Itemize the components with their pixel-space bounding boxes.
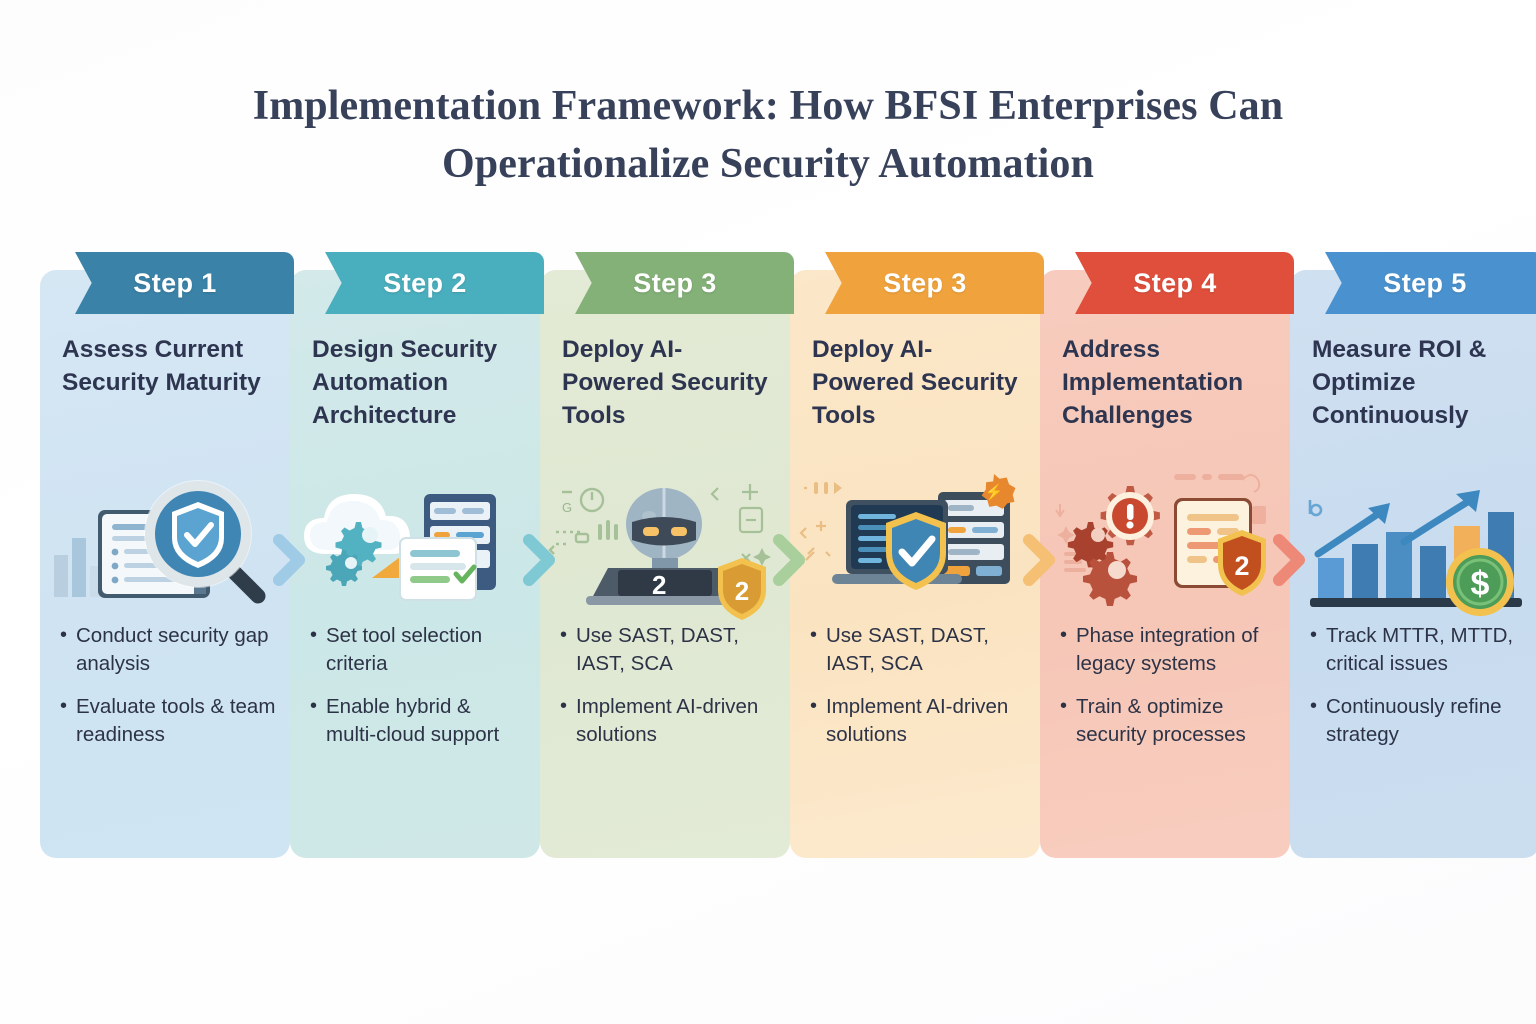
bullet-text: Set tool selection criteria [326,622,526,678]
bar-chart-growth-arrow-dollar-icon: $ [1296,490,1534,640]
svg-text:2: 2 [735,576,749,606]
bullet-dot-icon: • [1060,693,1076,720]
bullet-text: Implement AI-driven solutions [576,693,776,749]
step-label-6: Step 5 [1383,268,1466,299]
bullet-text: Track MTTR, MTTD, critical issues [1326,622,1526,678]
chevron-right-icon-4 [1019,530,1063,590]
step-label-3: Step 3 [633,268,716,299]
bullet-text: Train & optimize security processes [1076,693,1276,749]
list-item: • Enable hybrid & multi-cloud support [310,693,526,749]
step-title-1: Assess Current Security Maturity [62,334,274,400]
step-panel-4[interactable]: Step 3 Deploy AI-Powered Security Tools [790,252,1040,858]
step-panel-3[interactable]: Step 3 Deploy AI-Powered Security Tools … [540,252,790,858]
bullet-text: Continuously refine strategy [1326,693,1526,749]
bullet-dot-icon: • [60,693,76,720]
bullet-dot-icon: • [560,622,576,649]
step-title-3: Deploy AI-Powered Security Tools [562,334,774,432]
step-label-1: Step 1 [133,268,216,299]
step-title-4: Deploy AI-Powered Security Tools [812,334,1024,432]
step-panel-6[interactable]: Step 5 Measure ROI & Optimize Continuous… [1290,252,1536,858]
step-title-6: Measure ROI & Optimize Continuously [1312,334,1524,432]
chevron-right-icon-1 [269,530,313,590]
bullet-text: Use SAST, DAST, IAST, SCA [576,622,776,678]
steps-track: Step 1 Assess Current Security Maturity [40,252,1496,862]
bullet-list-4: • Use SAST, DAST, IAST, SCA • Implement … [810,622,1026,764]
document-magnifier-shield-icon [46,470,284,620]
bullet-dot-icon: • [60,622,76,649]
chevron-right-icon-2 [519,530,563,590]
bullet-text: Enable hybrid & multi-cloud support [326,693,526,749]
step-panel-2[interactable]: Step 2 Design Security Automation Archit… [290,252,540,858]
list-item: • Track MTTR, MTTD, critical issues [1310,622,1526,678]
bullet-text: Conduct security gap analysis [76,622,276,678]
list-item: • Train & optimize security processes [1060,693,1276,749]
bullet-dot-icon: • [310,622,326,649]
bullet-dot-icon: • [1310,693,1326,720]
bullet-dot-icon: • [810,622,826,649]
list-item: • Use SAST, DAST, IAST, SCA [810,622,1026,678]
chevron-right-icon-3 [769,530,813,590]
bullet-dot-icon: • [310,693,326,720]
list-item: • Phase integration of legacy systems [1060,622,1276,678]
step-header-2: Step 2 [306,252,544,314]
bullet-text: Evaluate tools & team readiness [76,693,276,749]
svg-text:2: 2 [652,570,666,600]
laptop-shield-server-icon: ⚡ [796,470,1034,620]
svg-text:⚡: ⚡ [985,483,1004,501]
svg-text:$: $ [1471,565,1490,603]
title-line-2: Operationalize Security Automation [150,136,1386,194]
cloud-gears-server-icon [296,470,534,620]
bullet-text: Implement AI-driven solutions [826,693,1026,749]
gears-alert-document-icon: 2 [1046,460,1284,610]
bullet-list-1: • Conduct security gap analysis • Evalua… [60,622,276,764]
step-label-2: Step 2 [383,268,466,299]
step-label-4: Step 3 [883,268,966,299]
page-title: Implementation Framework: How BFSI Enter… [0,78,1536,194]
list-item: • Set tool selection criteria [310,622,526,678]
list-item: • Use SAST, DAST, IAST, SCA [560,622,776,678]
bullet-list-6: • Track MTTR, MTTD, critical issues • Co… [1310,622,1526,764]
list-item: • Evaluate tools & team readiness [60,693,276,749]
chevron-right-icon-5 [1269,530,1313,590]
bullet-dot-icon: • [560,693,576,720]
svg-text:2: 2 [1234,551,1249,581]
step-header-4: Step 3 [806,252,1044,314]
step-label-5: Step 4 [1133,268,1216,299]
ai-robot-laptop-shield-icon: G [546,470,784,620]
svg-text:G: G [562,500,572,515]
bullet-list-3: • Use SAST, DAST, IAST, SCA • Implement … [560,622,776,764]
list-item: • Continuously refine strategy [1310,693,1526,749]
bullet-text: Phase integration of legacy systems [1076,622,1276,678]
step-title-2: Design Security Automation Architecture [312,334,524,432]
list-item: • Conduct security gap analysis [60,622,276,678]
step-title-5: Address Implementation Challenges [1062,334,1274,432]
bullet-dot-icon: • [1060,622,1076,649]
step-panel-5[interactable]: Step 4 Address Implementation Challenges [1040,252,1290,858]
list-item: • Implement AI-driven solutions [560,693,776,749]
step-panel-1[interactable]: Step 1 Assess Current Security Maturity [40,252,290,858]
bullet-list-2: • Set tool selection criteria • Enable h… [310,622,526,764]
bullet-dot-icon: • [1310,622,1326,649]
list-item: • Implement AI-driven solutions [810,693,1026,749]
step-header-3: Step 3 [556,252,794,314]
infographic-canvas: Implementation Framework: How BFSI Enter… [0,0,1536,1024]
bullet-dot-icon: • [810,693,826,720]
title-line-1: Implementation Framework: How BFSI Enter… [150,78,1386,136]
bullet-text: Use SAST, DAST, IAST, SCA [826,622,1026,678]
bullet-list-5: • Phase integration of legacy systems • … [1060,622,1276,764]
